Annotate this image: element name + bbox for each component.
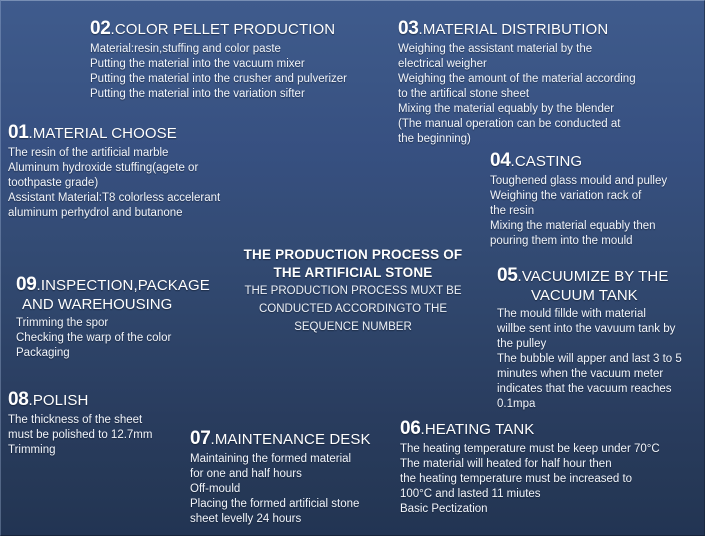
step-06-body: The heating temperature must be keep und… — [400, 442, 660, 517]
step-06-line-1: The heating temperature must be keep und… — [400, 442, 660, 457]
step-07-heading: 07.MAINTENANCE DESK — [190, 428, 371, 450]
center-title-main-line-1: THE PRODUCTION PROCESS OF — [213, 246, 493, 264]
step-05-body: The mould fillde with material willbe se… — [497, 307, 682, 412]
step-03-heading: 03.MATERIAL DISTRIBUTION — [398, 18, 636, 40]
step-02-line-1: Material:resin,stuffing and color paste — [90, 42, 347, 57]
step-03-line-1: Weighing the assistant material by the — [398, 42, 636, 57]
step-05-line-4: The bubble will apper and last 3 to 5 — [497, 352, 682, 367]
process-step-05: 05.VACUUMIZE BY THE VACUUM TANK The moul… — [497, 265, 682, 412]
step-05-line-3: the pulley — [497, 337, 682, 352]
step-04-title: .CASTING — [511, 153, 583, 170]
step-03-line-2: electrical weigher — [398, 57, 636, 72]
process-step-01: 01.MATERIAL CHOOSE The resin of the arti… — [8, 122, 220, 221]
step-05-line-2: willbe sent into the vavuum tank by — [497, 322, 682, 337]
step-03-line-5: Mixing the material equably by the blend… — [398, 102, 636, 117]
step-03-title: .MATERIAL DISTRIBUTION — [419, 21, 609, 38]
step-04-number: 04 — [490, 150, 511, 171]
step-06-number: 06 — [400, 418, 421, 439]
step-04-line-2: Weighing the variation rack of — [490, 189, 667, 204]
step-02-line-4: Putting the material into the variation … — [90, 87, 347, 102]
step-06-line-4: 100°C and lasted 11 miutes — [400, 487, 660, 502]
step-02-body: Material:resin,stuffing and color paste … — [90, 42, 347, 102]
step-01-line-4: Assistant Material:T8 colorless accelera… — [8, 191, 220, 206]
step-02-line-3: Putting the material into the crusher an… — [90, 72, 347, 87]
step-01-heading: 01.MATERIAL CHOOSE — [8, 122, 220, 144]
step-04-line-4: Mixing the material equably then — [490, 219, 667, 234]
step-06-title: .HEATING TANK — [421, 421, 535, 438]
step-07-line-3: Off-mould — [190, 482, 371, 497]
step-05-line-5: minutes when the vacuum meter — [497, 367, 682, 382]
step-04-body: Toughened glass mould and pulley Weighin… — [490, 174, 667, 249]
step-09-line-1: Trimming the spor — [16, 316, 210, 331]
step-05-title: .VACUUMIZE BY THE — [518, 268, 669, 285]
step-05-line-6: indicates that the vacuum reaches — [497, 382, 682, 397]
step-07-line-4: Placing the formed artificial stone — [190, 497, 371, 512]
step-02-heading: 02.COLOR PELLET PRODUCTION — [90, 18, 347, 40]
step-06-line-5: Basic Pectization — [400, 502, 660, 517]
step-01-line-2: Aluminum hydroxide stuffing(agete or — [8, 161, 220, 176]
step-01-line-5: aluminum perhydrol and butanone — [8, 206, 220, 221]
step-08-line-1: The thickness of the sheet — [8, 413, 152, 428]
step-08-heading: 08.POLISH — [8, 389, 152, 411]
step-01-number: 01 — [8, 122, 29, 143]
step-08-line-3: Trimming — [8, 443, 152, 458]
center-title-main-line-2: THE ARTIFICIAL STONE — [213, 264, 493, 282]
step-01-title: .MATERIAL CHOOSE — [29, 125, 177, 142]
center-title-sub-line-3: SEQUENCE NUMBER — [213, 320, 493, 335]
step-03-line-6: (The manual operation can be conducted a… — [398, 117, 636, 132]
step-06-heading: 06.HEATING TANK — [400, 418, 660, 440]
step-01-line-3: toothpaste grade) — [8, 176, 220, 191]
step-07-line-2: for one and half hours — [190, 467, 371, 482]
process-step-07: 07.MAINTENANCE DESK Maintaining the form… — [190, 428, 371, 527]
step-05-line-1: The mould fillde with material — [497, 307, 682, 322]
step-07-number: 07 — [190, 428, 211, 449]
step-04-line-5: pouring them into the mould — [490, 234, 667, 249]
step-04-line-1: Toughened glass mould and pulley — [490, 174, 667, 189]
process-step-09: 09.INSPECTION,PACKAGE AND WAREHOUSING Tr… — [16, 274, 210, 361]
process-step-02: 02.COLOR PELLET PRODUCTION Material:resi… — [90, 18, 347, 102]
step-03-line-4: to the artifical stone sheet — [398, 87, 636, 102]
step-09-heading-line-2: AND WAREHOUSING — [16, 296, 210, 314]
step-08-body: The thickness of the sheet must be polis… — [8, 413, 152, 458]
process-diagram-canvas: 02.COLOR PELLET PRODUCTION Material:resi… — [0, 0, 705, 536]
step-02-line-2: Putting the material into the vacuum mix… — [90, 57, 347, 72]
step-07-line-5: sheet levelly 24 hours — [190, 512, 371, 527]
step-02-title: .COLOR PELLET PRODUCTION — [111, 21, 336, 38]
step-04-line-3: the resin — [490, 204, 667, 219]
diagram-center-title: THE PRODUCTION PROCESS OF THE ARTIFICIAL… — [213, 246, 493, 335]
center-title-sub-line-2: CONDUCTED ACCORDINGTO THE — [213, 302, 493, 317]
step-01-body: The resin of the artificial marble Alumi… — [8, 146, 220, 221]
step-05-number: 05 — [497, 265, 518, 286]
process-step-06: 06.HEATING TANK The heating temperature … — [400, 418, 660, 517]
step-07-body: Maintaining the formed material for one … — [190, 452, 371, 527]
step-07-line-1: Maintaining the formed material — [190, 452, 371, 467]
step-06-line-3: the heating temperature must be increase… — [400, 472, 660, 487]
step-03-line-3: Weighing the amount of the material acco… — [398, 72, 636, 87]
process-step-03: 03.MATERIAL DISTRIBUTION Weighing the as… — [398, 18, 636, 147]
center-title-sub-line-1: THE PRODUCTION PROCESS MUXT BE — [213, 284, 493, 299]
step-05-heading-line-2: VACUUM TANK — [497, 287, 682, 305]
step-09-title: .INSPECTION,PACKAGE — [37, 277, 210, 294]
step-05-line-7: 0.1mpa — [497, 397, 682, 412]
step-07-title: .MAINTENANCE DESK — [211, 431, 371, 448]
process-step-04: 04.CASTING Toughened glass mould and pul… — [490, 150, 667, 249]
step-09-body: Trimming the spor Checking the warp of t… — [16, 316, 210, 361]
step-08-number: 08 — [8, 389, 29, 410]
step-08-title: .POLISH — [29, 392, 89, 409]
step-09-line-2: Checking the warp of the color — [16, 331, 210, 346]
step-04-heading: 04.CASTING — [490, 150, 667, 172]
step-09-line-3: Packaging — [16, 346, 210, 361]
step-06-line-2: The material will heated for half hour t… — [400, 457, 660, 472]
step-03-line-7: the beginning) — [398, 132, 636, 147]
step-03-number: 03 — [398, 18, 419, 39]
step-01-line-1: The resin of the artificial marble — [8, 146, 220, 161]
step-09-heading: 09.INSPECTION,PACKAGE — [16, 274, 210, 296]
step-05-heading: 05.VACUUMIZE BY THE — [497, 265, 682, 287]
step-02-number: 02 — [90, 18, 111, 39]
step-08-line-2: must be polished to 12.7mm — [8, 428, 152, 443]
process-step-08: 08.POLISH The thickness of the sheet mus… — [8, 389, 152, 458]
step-03-body: Weighing the assistant material by the e… — [398, 42, 636, 147]
step-09-number: 09 — [16, 274, 37, 295]
